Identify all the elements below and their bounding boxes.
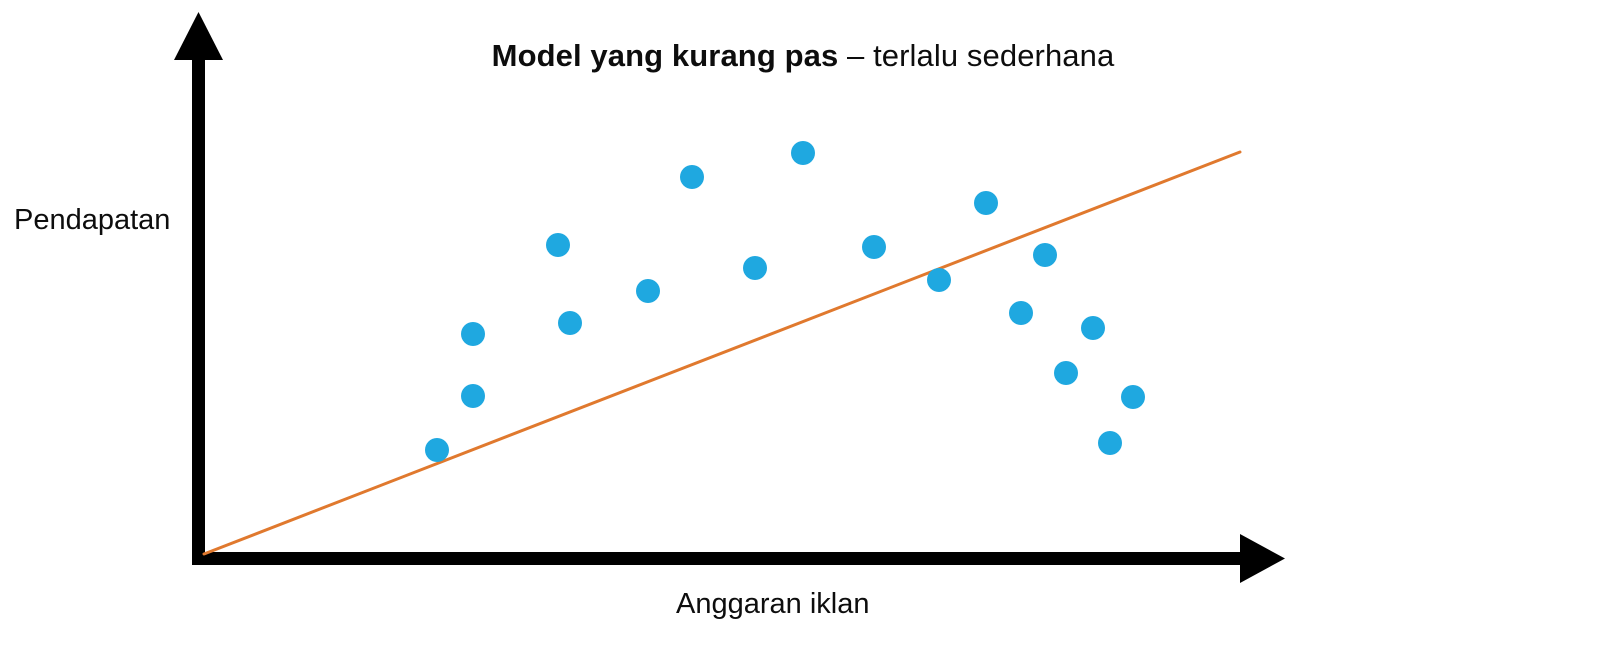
- scatter-plot-graphic: [0, 0, 1616, 656]
- scatter-point: [1121, 385, 1145, 409]
- scatter-point: [461, 384, 485, 408]
- scatter-point: [1054, 361, 1078, 385]
- trend-line-group: [204, 152, 1240, 554]
- scatter-points-group: [425, 141, 1145, 462]
- scatter-point: [927, 268, 951, 292]
- x-axis-line: [192, 552, 1255, 565]
- x-axis-arrow-icon: [1240, 534, 1285, 583]
- scatter-point: [1081, 316, 1105, 340]
- scatter-point: [558, 311, 582, 335]
- scatter-point: [636, 279, 660, 303]
- y-axis-line: [192, 40, 205, 565]
- scatter-point: [1098, 431, 1122, 455]
- scatter-point: [791, 141, 815, 165]
- scatter-point: [1009, 301, 1033, 325]
- scatter-point: [862, 235, 886, 259]
- scatter-point: [743, 256, 767, 280]
- scatter-point: [680, 165, 704, 189]
- scatter-point: [461, 322, 485, 346]
- y-axis-arrow-icon: [174, 12, 223, 60]
- scatter-point: [1033, 243, 1057, 267]
- scatter-point: [974, 191, 998, 215]
- axes-group: [174, 12, 1285, 583]
- chart-canvas: Model yang kurang pas – terlalu sederhan…: [0, 0, 1616, 656]
- scatter-point: [425, 438, 449, 462]
- scatter-point: [546, 233, 570, 257]
- model-trend-line: [204, 152, 1240, 554]
